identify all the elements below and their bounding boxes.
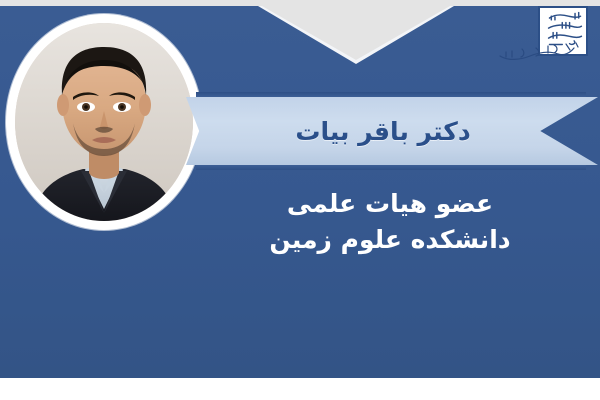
avatar xyxy=(6,14,202,230)
portrait-photo xyxy=(15,23,193,221)
public-relations-script-icon xyxy=(496,40,582,68)
role-line-2: دانشکده علوم زمین xyxy=(190,222,590,258)
avatar-image-clip xyxy=(15,23,193,221)
university-logo xyxy=(496,4,588,70)
banner-card: دکتر باقر بیات عضو هیات علمی دانشکده علو… xyxy=(0,0,600,400)
ribbon-body: دکتر باقر بیات xyxy=(186,97,598,165)
name-ribbon: دکتر باقر بیات xyxy=(186,92,598,170)
role-line-1: عضو هیات علمی xyxy=(190,186,590,222)
person-name: دکتر باقر بیات xyxy=(295,117,488,146)
person-role: عضو هیات علمی دانشکده علوم زمین xyxy=(190,186,590,257)
